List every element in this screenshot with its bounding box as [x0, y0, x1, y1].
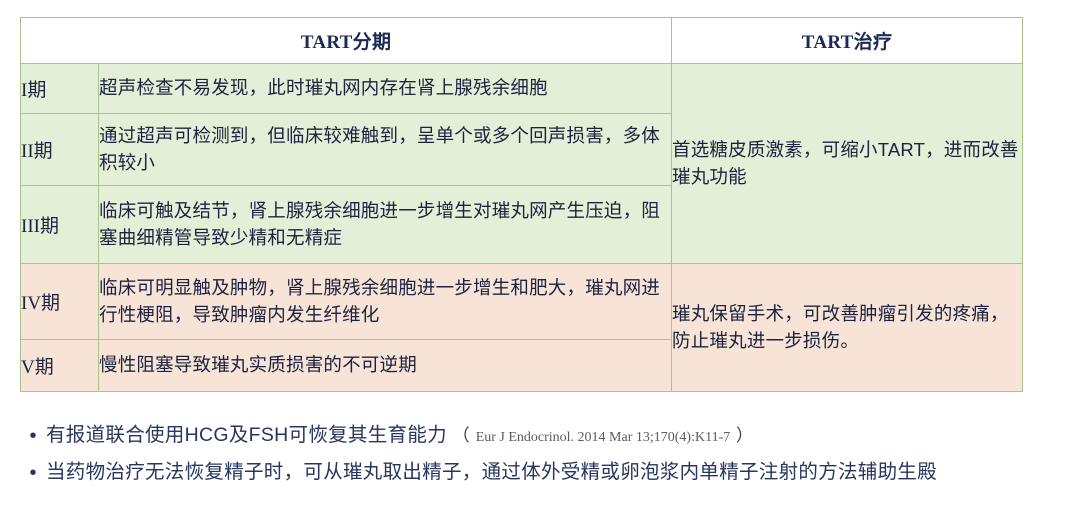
citation-paren-open: （ — [453, 426, 470, 445]
stage-label-1: I期 — [21, 64, 99, 114]
bullet-dot-icon: • — [20, 458, 46, 488]
table-row: I期 超声检查不易发现，此时璀丸网内存在肾上腺残余细胞 首选糖皮质激素，可缩小T… — [21, 64, 1023, 114]
stage-description-1: 超声检查不易发现，此时璀丸网内存在肾上腺残余细胞 — [99, 64, 672, 114]
stage-label-5: V期 — [21, 340, 99, 392]
header-cell-staging: TART分期 — [21, 18, 672, 64]
bullet-list: • 有报道联合使用HCG及FSH可恢复其生育能力 （ Eur J Endocri… — [20, 421, 1065, 495]
citation-paren-close: ） — [736, 426, 753, 445]
citation-reference: Eur J Endocrinol. 2014 Mar 13;170(4):K11… — [476, 430, 731, 445]
table-row: IV期 临床可明显触及肿物，肾上腺残余细胞进一步增生和肥大，璀丸网进行性梗阻，导… — [21, 264, 1023, 340]
slide-canvas: TART分期 TART治疗 I期 超声检查不易发现，此时璀丸网内存在肾上腺残余细… — [0, 0, 1077, 530]
stage-label-2: II期 — [21, 114, 99, 186]
bullet-text-2: 当药物治疗无法恢复精子时，可从璀丸取出精子，通过体外受精或卵泡浆内单精子注射的方… — [46, 458, 1065, 487]
treatment-cell-late: 璀丸保留手术，可改善肿瘤引发的疼痛，防止璀丸进一步损伤。 — [672, 264, 1023, 392]
header-label-treatment: TART治疗 — [802, 32, 893, 53]
bullet-dot-icon: • — [20, 421, 46, 451]
list-item: • 当药物治疗无法恢复精子时，可从璀丸取出精子，通过体外受精或卵泡浆内单精子注射… — [20, 458, 1065, 488]
stage-description-4: 临床可明显触及肿物，肾上腺残余细胞进一步增生和肥大，璀丸网进行性梗阻，导致肿瘤内… — [99, 264, 672, 340]
stage-description-3: 临床可触及结节，肾上腺残余细胞进一步增生对璀丸网产生压迫，阻塞曲细精管导致少精和… — [99, 186, 672, 264]
bullet-main-text-2: 当药物治疗无法恢复精子时，可从璀丸取出精子，通过体外受精或卵泡浆内单精子注射的方… — [46, 461, 937, 483]
list-item: • 有报道联合使用HCG及FSH可恢复其生育能力 （ Eur J Endocri… — [20, 421, 1065, 451]
stage-label-4: IV期 — [21, 264, 99, 340]
bullet-main-text-1: 有报道联合使用HCG及FSH可恢复其生育能力 — [46, 424, 447, 446]
tart-staging-table: TART分期 TART治疗 I期 超声检查不易发现，此时璀丸网内存在肾上腺残余细… — [20, 17, 1023, 392]
stage-description-2: 通过超声可检测到，但临床较难触到，呈单个或多个回声损害，多体积较小 — [99, 114, 672, 186]
table-header-row: TART分期 TART治疗 — [21, 18, 1023, 64]
stage-description-5: 慢性阻塞导致璀丸实质损害的不可逆期 — [99, 340, 672, 392]
bullet-text-1: 有报道联合使用HCG及FSH可恢复其生育能力 （ Eur J Endocrino… — [46, 421, 1065, 450]
stage-label-3: III期 — [21, 186, 99, 264]
header-label-staging: TART分期 — [301, 32, 392, 53]
treatment-cell-early: 首选糖皮质激素，可缩小TART，进而改善璀丸功能 — [672, 64, 1023, 264]
header-cell-treatment: TART治疗 — [672, 18, 1023, 64]
